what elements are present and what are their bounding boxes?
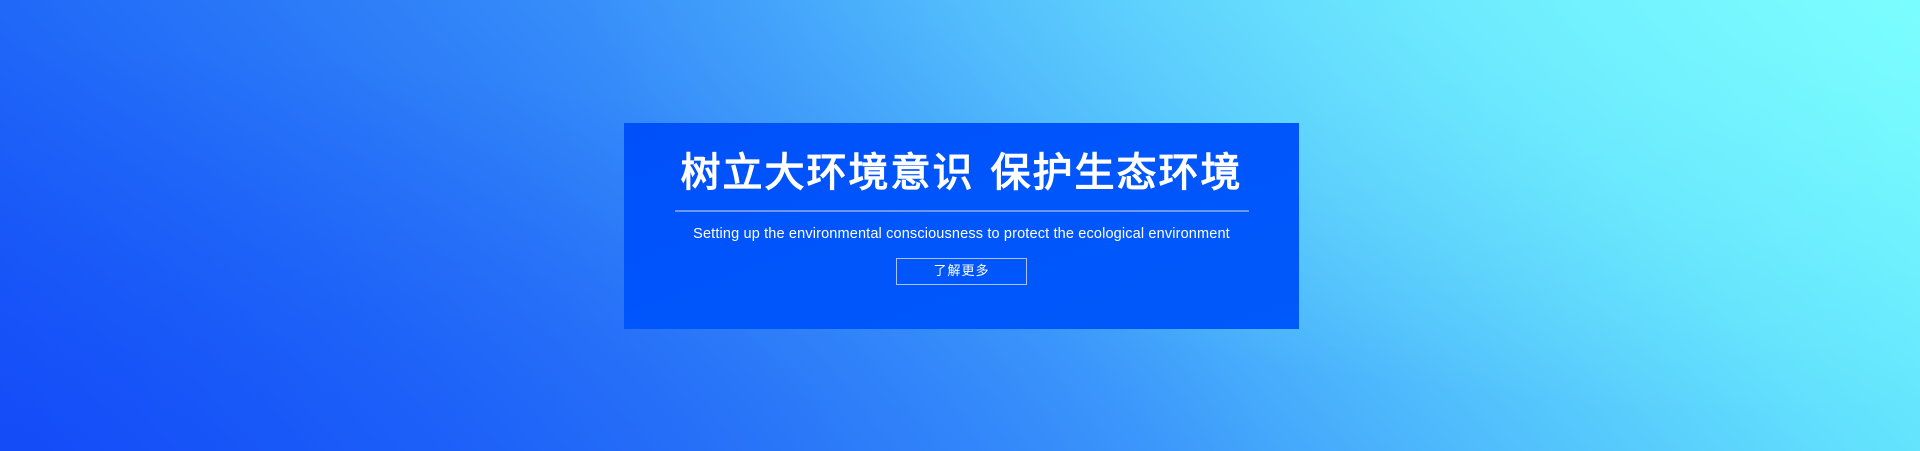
hero-subtitle: Setting up the environmental consciousne… xyxy=(693,224,1230,244)
hero-banner: 树立大环境意识 保护生态环境 Setting up the environmen… xyxy=(0,0,1920,451)
learn-more-button[interactable]: 了解更多 xyxy=(896,258,1027,285)
page-title: 树立大环境意识 保护生态环境 xyxy=(681,149,1243,197)
title-divider xyxy=(675,210,1249,212)
hero-content-card: 树立大环境意识 保护生态环境 Setting up the environmen… xyxy=(624,123,1299,329)
